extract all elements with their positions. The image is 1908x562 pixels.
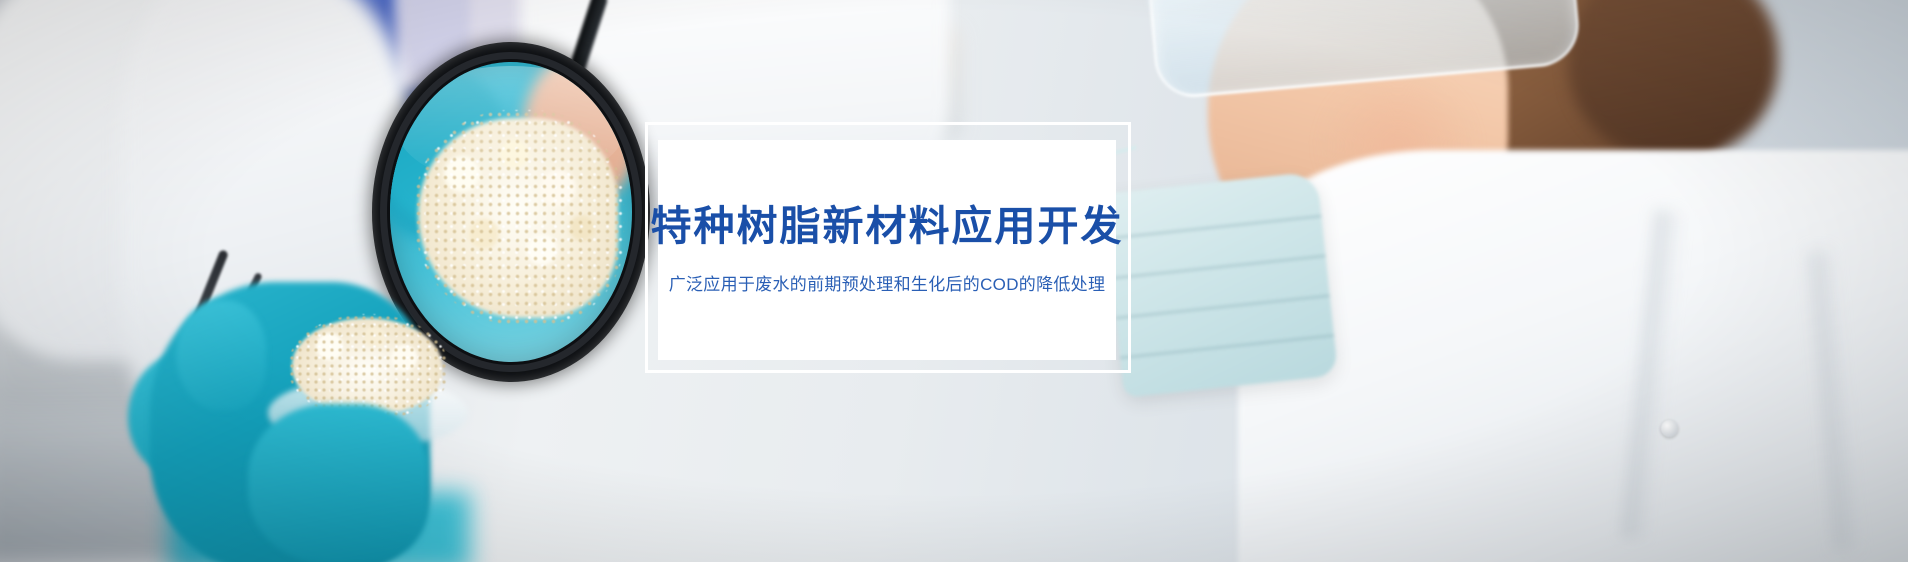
hero-banner: 特种树脂新材料应用开发 广泛应用于废水的前期预处理和生化后的COD的降低处理 [0, 0, 1908, 562]
hero-headline: 特种树脂新材料应用开发 [651, 204, 1124, 249]
hero-text-panel: 特种树脂新材料应用开发 广泛应用于废水的前期预处理和生化后的COD的降低处理 [658, 140, 1116, 360]
hero-subtitle: 广泛应用于废水的前期预处理和生化后的COD的降低处理 [669, 275, 1106, 295]
